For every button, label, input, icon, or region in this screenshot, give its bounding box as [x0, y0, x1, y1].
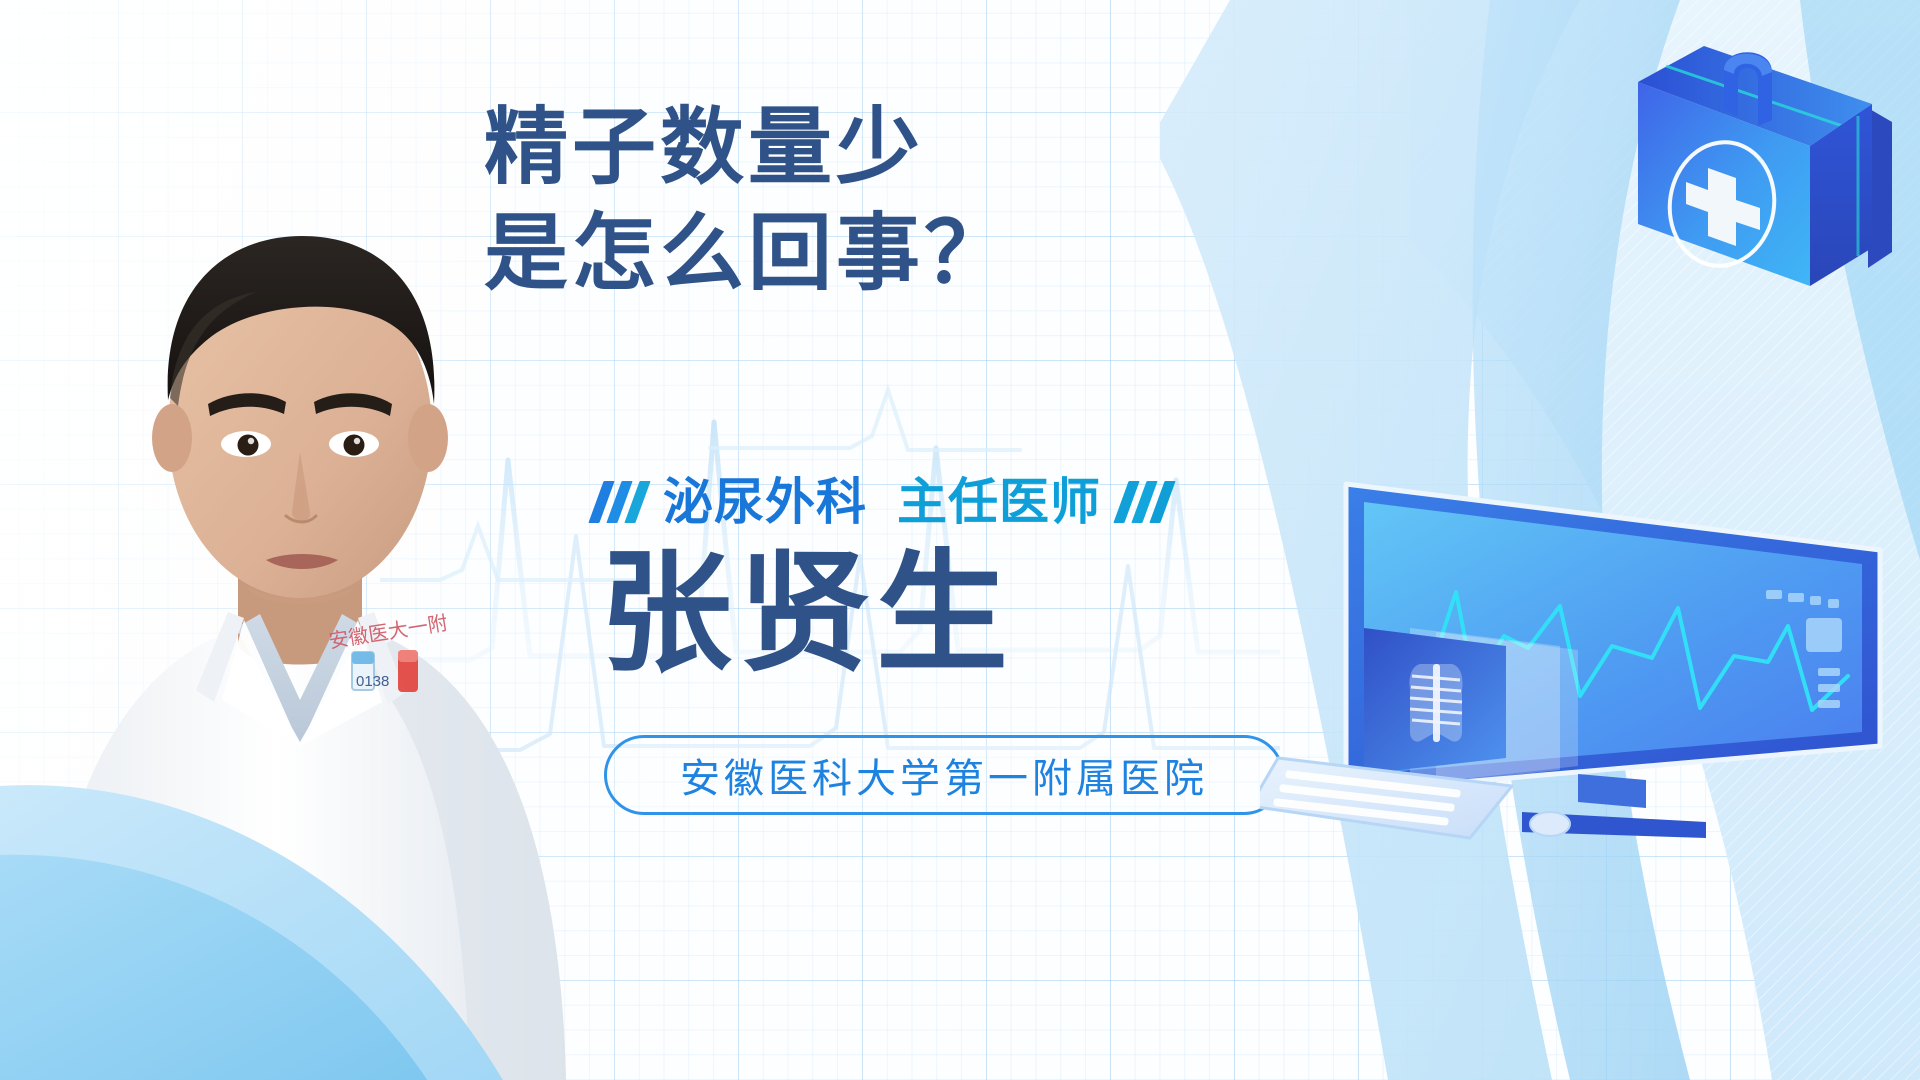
doctor-name: 张贤生: [600, 548, 1014, 680]
svg-text:0138: 0138: [356, 673, 389, 690]
poster-canvas: 精子数量少 是怎么回事？ 泌尿外科 主任医师 张贤生 安徽医科大学第一附属医院: [0, 0, 1920, 1080]
slash-divider-right-icon: [1121, 481, 1168, 523]
desktop-monitor-icon: [1260, 440, 1920, 860]
hospital-name: 安徽医科大学第一附属医院: [680, 746, 1208, 804]
decorative-arc-shape: [0, 750, 660, 1080]
department-label: 泌尿外科: [663, 477, 867, 527]
medical-bag-icon: [1620, 24, 1920, 336]
hospital-badge: 安徽医科大学第一附属医院: [604, 735, 1284, 815]
rank-label: 主任医师: [897, 477, 1101, 527]
credentials-row: 泌尿外科 主任医师: [596, 472, 1168, 532]
